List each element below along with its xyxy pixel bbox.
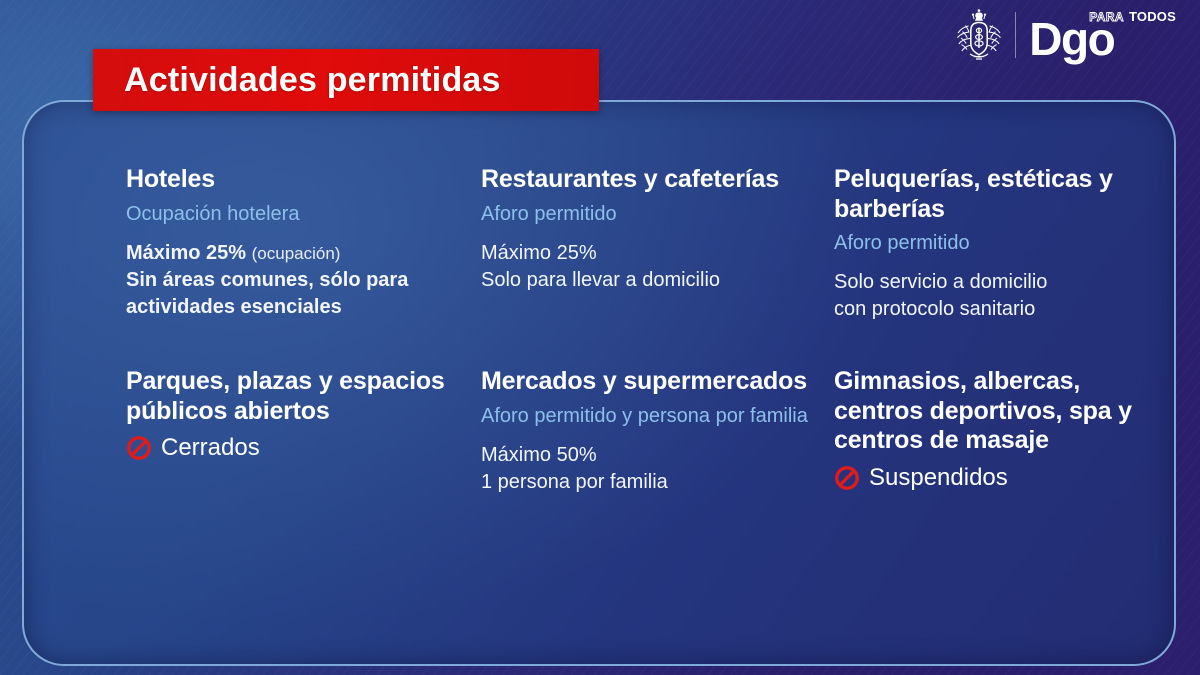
category-card-parques: Parques, plazas y espacios públicos abie… xyxy=(126,367,481,496)
category-subtitle: Aforo permitido xyxy=(834,231,1161,256)
body-line: Máximo 25% (ocupación) xyxy=(126,240,471,267)
category-card-gimnasios: Gimnasios, albercas, centros deportivos,… xyxy=(834,367,1171,496)
logo-divider xyxy=(1015,12,1016,58)
category-title-line: estéticas xyxy=(987,165,1092,193)
category-card-hoteles: Hoteles Ocupación hotelera Máximo 25% (o… xyxy=(126,165,481,323)
category-title-line: centros deportivos, xyxy=(834,397,1062,425)
category-subtitle: Aforo permitido y persona por familia xyxy=(481,404,824,429)
category-title-line: y cafeterías xyxy=(644,165,779,193)
category-body: Máximo 50% 1 persona por familia xyxy=(481,442,824,496)
logo-wordmark: PARA TODOS Dgo xyxy=(1029,9,1176,61)
body-line: con protocolo sanitario xyxy=(834,296,1161,323)
body-line: 1 persona por familia xyxy=(481,469,824,496)
body-line-strong: Máximo 25% xyxy=(126,242,246,264)
category-subtitle-line: persona por familia xyxy=(638,405,808,427)
category-body: Solo servicio a domicilio con protocolo … xyxy=(834,269,1161,323)
category-title: Restaurantes y cafeterías xyxy=(481,165,824,195)
category-title-line: públicos abiertos xyxy=(126,397,330,425)
activities-grid: Hoteles Ocupación hotelera Máximo 25% (o… xyxy=(126,165,1171,496)
body-line: Máximo 50% xyxy=(481,442,824,469)
prohibited-icon xyxy=(126,435,152,461)
logo-dgo-text: Dgo xyxy=(1029,17,1176,61)
category-card-peluquerias: Peluquerías, estéticas y barberías Aforo… xyxy=(834,165,1171,323)
status-label: Cerrados xyxy=(161,436,260,460)
category-title-line: Gimnasios, albercas, xyxy=(834,367,1080,395)
title-banner: Actividades permitidas xyxy=(93,49,599,111)
body-line: Solo servicio a domicilio xyxy=(834,269,1161,296)
brand-logo: PARA TODOS Dgo xyxy=(952,4,1176,66)
category-title: Hoteles xyxy=(126,165,471,195)
category-title-line: Mercados y xyxy=(481,367,617,395)
status-label: Suspendidos xyxy=(869,466,1008,490)
status-badge: Suspendidos xyxy=(834,465,1161,491)
body-line: Solo para llevar a domicilio xyxy=(481,267,824,294)
durango-coat-of-arms-icon xyxy=(952,6,1006,64)
category-title: Gimnasios, albercas, centros deportivos,… xyxy=(834,367,1161,456)
category-body: Máximo 25% (ocupación) Sin áreas comunes… xyxy=(126,240,471,321)
body-line: actividades esenciales xyxy=(126,294,471,321)
category-subtitle-line: Aforo permitido y xyxy=(481,405,632,427)
category-title-line: y espacios xyxy=(319,367,445,395)
category-body: Máximo 25% Solo para llevar a domicilio xyxy=(481,240,824,294)
category-card-mercados: Mercados y supermercados Aforo permitido… xyxy=(481,367,834,496)
category-title: Mercados y supermercados xyxy=(481,367,824,397)
category-subtitle: Ocupación hotelera xyxy=(126,202,471,227)
category-title-line: supermercados xyxy=(623,367,807,395)
category-card-restaurantes: Restaurantes y cafeterías Aforo permitid… xyxy=(481,165,834,323)
body-line-note: (ocupación) xyxy=(252,244,341,263)
status-badge: Cerrados xyxy=(126,435,471,461)
category-title-line: Restaurantes xyxy=(481,165,637,193)
category-title: Peluquerías, estéticas y barberías xyxy=(834,165,1161,224)
category-title-line: Peluquerías, xyxy=(834,165,980,193)
body-line: Máximo 25% xyxy=(481,240,824,267)
category-title-line: masaje xyxy=(965,426,1049,454)
category-title: Parques, plazas y espacios públicos abie… xyxy=(126,367,471,426)
page-title: Actividades permitidas xyxy=(124,61,501,100)
body-line: Sin áreas comunes, sólo para xyxy=(126,267,471,294)
prohibited-icon xyxy=(834,465,860,491)
category-subtitle: Aforo permitido xyxy=(481,202,824,227)
category-title-line: Parques, plazas xyxy=(126,367,312,395)
